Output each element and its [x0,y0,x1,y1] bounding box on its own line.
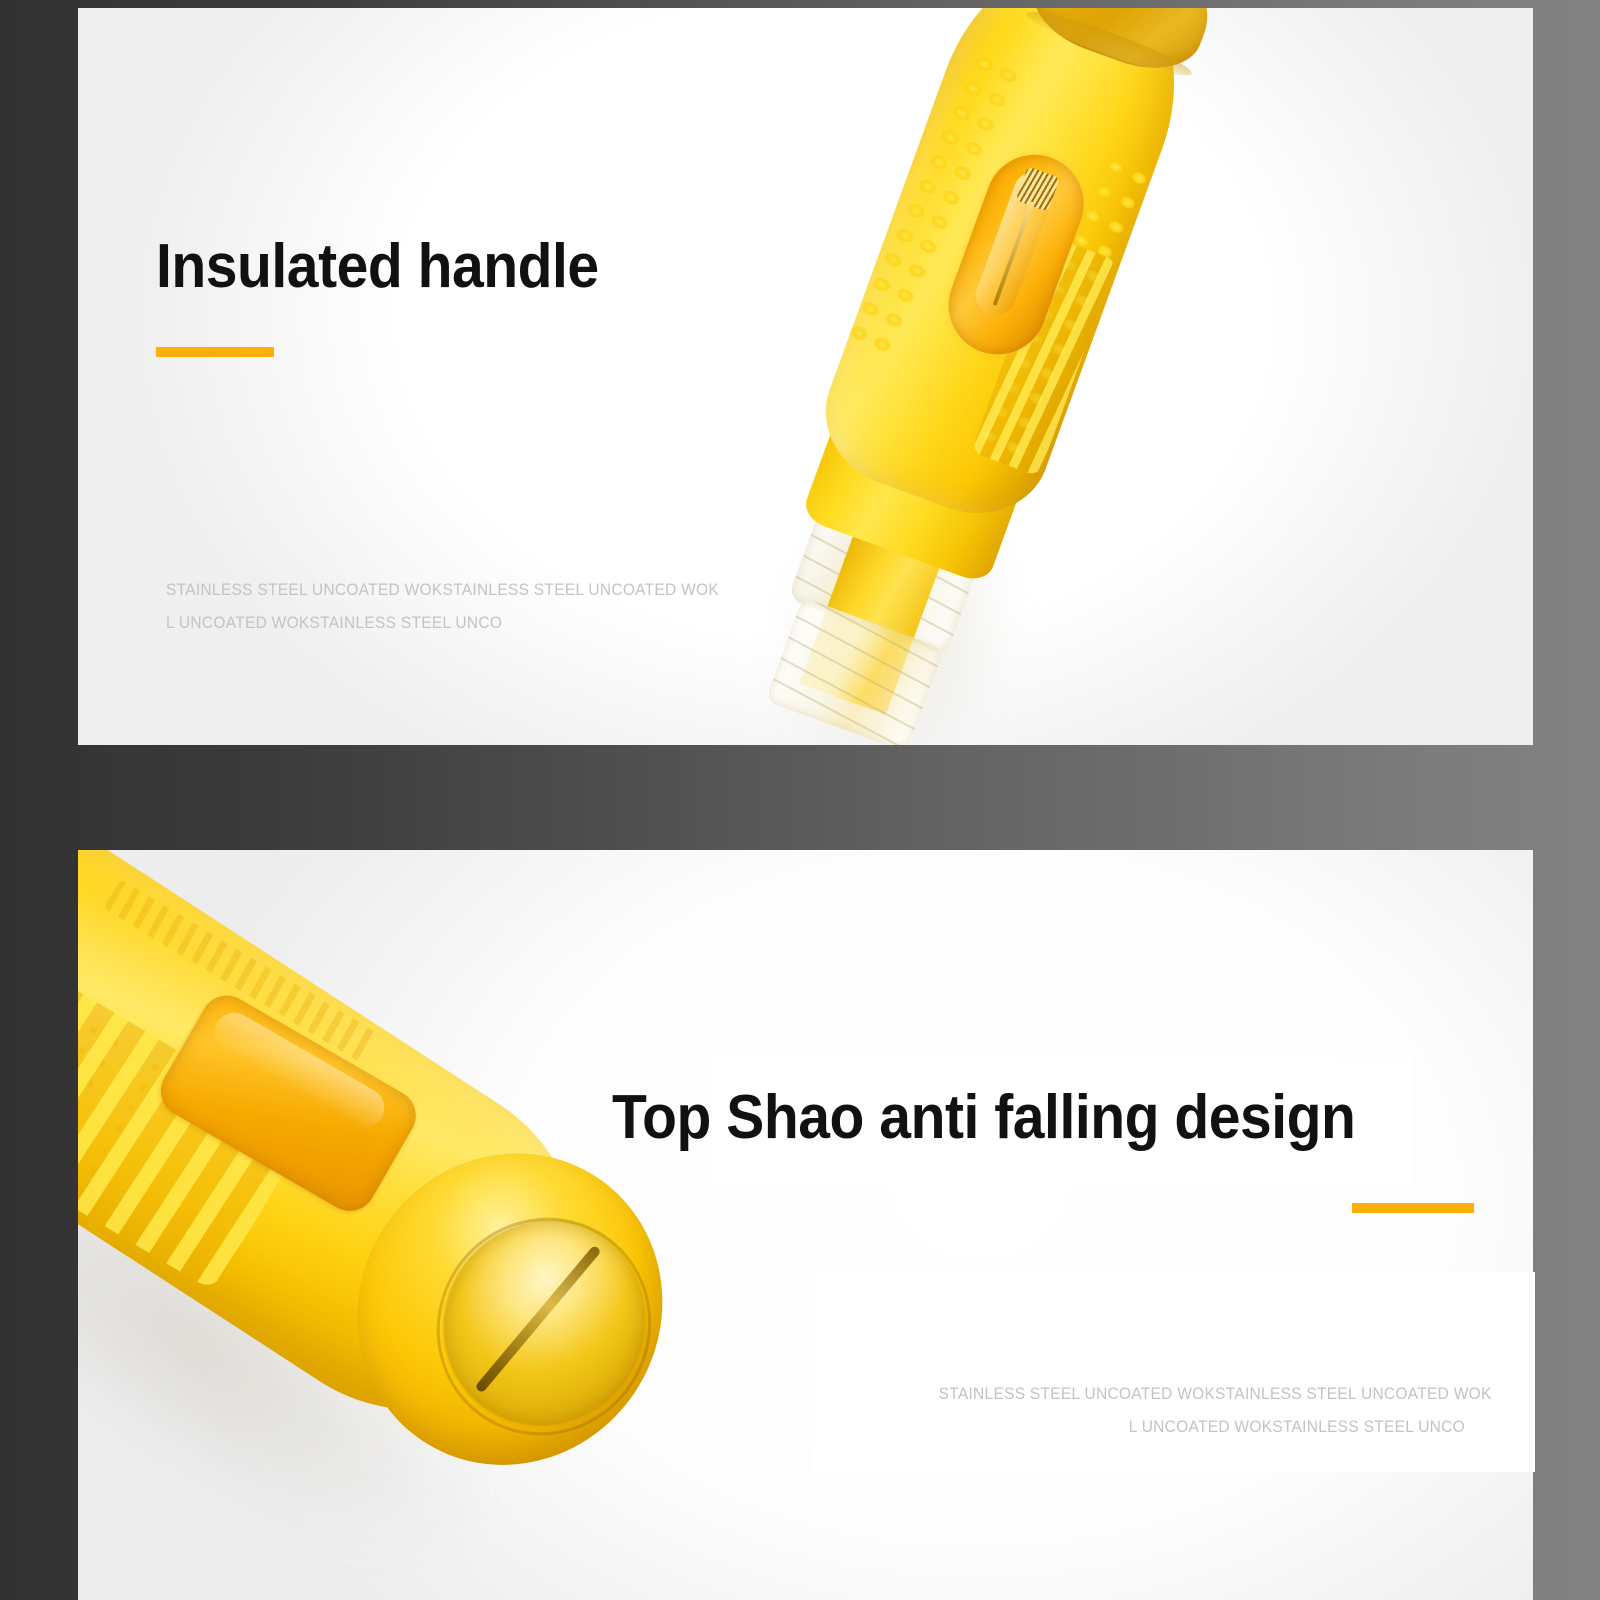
body-line: L UNCOATED WOKSTAINLESS STEEL UNCO [939,1411,1465,1444]
body-line: L UNCOATED WOKSTAINLESS STEEL UNCO [166,607,719,640]
accent-bar-2 [1352,1203,1474,1213]
body-line: STAINLESS STEEL UNCOATED WOKSTAINLESS ST… [166,574,719,607]
panel-1-text-block: Insulated handle [156,234,856,357]
product-feature-poster: Insulated handle STAINLESS STEEL UNCOATE… [0,0,1600,1600]
feature-panel-anti-falling-design [78,850,1533,1600]
panel-1-headline: Insulated handle [156,234,800,299]
accent-bar-1 [156,347,274,357]
panel-2-headline: Top Shao anti falling design [612,1085,1355,1150]
panel-2-body-copy: STAINLESS STEEL UNCOATED WOKSTAINLESS ST… [905,1378,1465,1444]
screwdriver-closeup-illustration [78,850,959,1600]
product-photo-butt-end [78,850,1533,1600]
feature-panel-insulated-handle: Insulated handle STAINLESS STEEL UNCOATE… [78,8,1533,745]
panel-1-body-copy: STAINLESS STEEL UNCOATED WOKSTAINLESS ST… [166,574,754,640]
body-line: STAINLESS STEEL UNCOATED WOKSTAINLESS ST… [939,1378,1465,1411]
